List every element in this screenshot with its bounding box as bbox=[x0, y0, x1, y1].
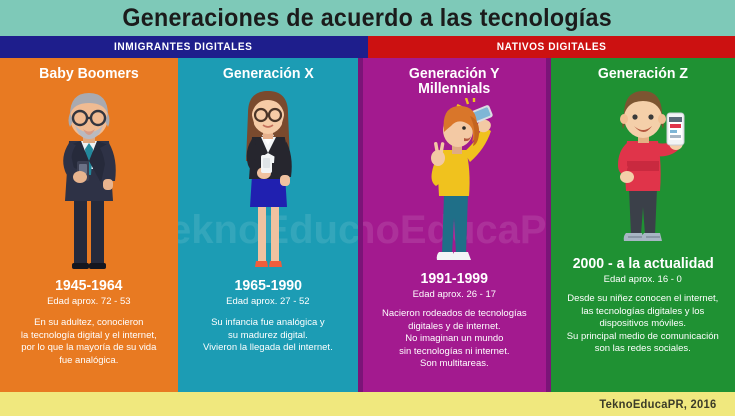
generation-age: Edad aprox. 16 - 0 bbox=[551, 273, 735, 286]
column-generacion-x: TeknoEducaPR Generación X bbox=[178, 58, 359, 392]
figure-businesswoman-with-phone bbox=[178, 83, 359, 275]
description-line: digitales y de internet. bbox=[369, 321, 540, 334]
column-title-sub: Millennials bbox=[409, 81, 500, 96]
description-line: No imaginan un mundo bbox=[369, 333, 540, 346]
column-text-block: 1965-1990 Edad aprox. 27 - 52 Su infanci… bbox=[178, 277, 359, 355]
generation-years: 1965-1990 bbox=[183, 277, 353, 294]
column-text-block: 1991-1999 Edad aprox. 26 - 17 Nacieron r… bbox=[363, 270, 546, 371]
generation-age: Edad aprox. 72 - 53 bbox=[0, 295, 178, 308]
description-line: sin tecnologías ni internet. bbox=[369, 346, 540, 359]
column-generacion-z: Generación Z bbox=[551, 58, 735, 392]
description-line: las tecnologías digitales y los bbox=[557, 306, 729, 319]
band-label: INMIGRANTES DIGITALES bbox=[115, 41, 253, 53]
column-text-block: 1945-1964 Edad aprox. 72 - 53 En su adul… bbox=[0, 277, 178, 367]
description-line: En su adultez, conocieron bbox=[6, 317, 172, 330]
figure-older-man-with-phone bbox=[0, 83, 178, 275]
description-line: Su principal medio de comunicación bbox=[557, 331, 729, 344]
column-title: Generación Z bbox=[598, 66, 688, 81]
band-nativos-digitales: NATIVOS DIGITALES bbox=[368, 36, 735, 58]
figure-boy-holding-smartphone bbox=[551, 83, 735, 257]
page-title: Generaciones de acuerdo a las tecnología… bbox=[123, 4, 613, 33]
description-line: Desde su niñez conocen el internet, bbox=[557, 293, 729, 306]
column-title: Generación Y Millennials bbox=[409, 66, 500, 96]
description-line: son las redes sociales. bbox=[557, 343, 729, 356]
column-text-block: 2000 - a la actualidad Edad aprox. 16 - … bbox=[551, 255, 735, 356]
figure-teen-taking-selfie bbox=[363, 98, 546, 272]
infographic-canvas: Generaciones de acuerdo a las tecnología… bbox=[0, 0, 735, 416]
column-baby-boomers: Baby Boomers bbox=[0, 58, 178, 392]
footer-credit: TeknoEducaPR, 2016 bbox=[600, 397, 717, 411]
generation-years: 2000 - a la actualidad bbox=[556, 255, 729, 272]
generation-description: Desde su niñez conocen el internet, las … bbox=[551, 293, 735, 356]
description-line: Su infancia fue analógica y bbox=[184, 317, 353, 330]
band-inmigrantes-digitales: INMIGRANTES DIGITALES bbox=[0, 36, 368, 58]
column-title: Baby Boomers bbox=[39, 66, 139, 81]
generation-description: Nacieron rodeados de tecnologías digital… bbox=[363, 308, 546, 371]
generation-years: 1945-1964 bbox=[5, 277, 172, 294]
description-line: dispositivos móviles. bbox=[557, 318, 729, 331]
description-line: fue analógica. bbox=[6, 355, 172, 368]
band-label: NATIVOS DIGITALES bbox=[496, 41, 606, 53]
generation-years: 1991-1999 bbox=[369, 270, 541, 287]
description-line: por lo que la mayoría de su vida bbox=[6, 342, 172, 355]
description-line: Son multitareas. bbox=[369, 358, 540, 371]
generation-description: En su adultez, conocieron la tecnología … bbox=[0, 317, 178, 367]
category-bands: INMIGRANTES DIGITALES NATIVOS DIGITALES bbox=[0, 36, 735, 58]
description-line: su madurez digital. bbox=[184, 330, 353, 343]
column-title: Generación X bbox=[222, 66, 313, 81]
column-generacion-y: TeknoEducaPR Generación Y Millennials bbox=[363, 58, 546, 392]
generation-description: Su infancia fue analógica y su madurez d… bbox=[178, 317, 359, 355]
description-line: Nacieron rodeados de tecnologías bbox=[369, 308, 540, 321]
footer-bar: TeknoEducaPR, 2016 bbox=[0, 392, 735, 416]
generation-age: Edad aprox. 26 - 17 bbox=[363, 288, 546, 301]
description-line: Vivieron la llegada del internet. bbox=[184, 342, 353, 355]
generation-columns: Baby Boomers bbox=[0, 58, 735, 392]
generation-age: Edad aprox. 27 - 52 bbox=[178, 295, 359, 308]
header-banner: Generaciones de acuerdo a las tecnología… bbox=[0, 0, 735, 36]
description-line: la tecnología digital y el internet, bbox=[6, 330, 172, 343]
